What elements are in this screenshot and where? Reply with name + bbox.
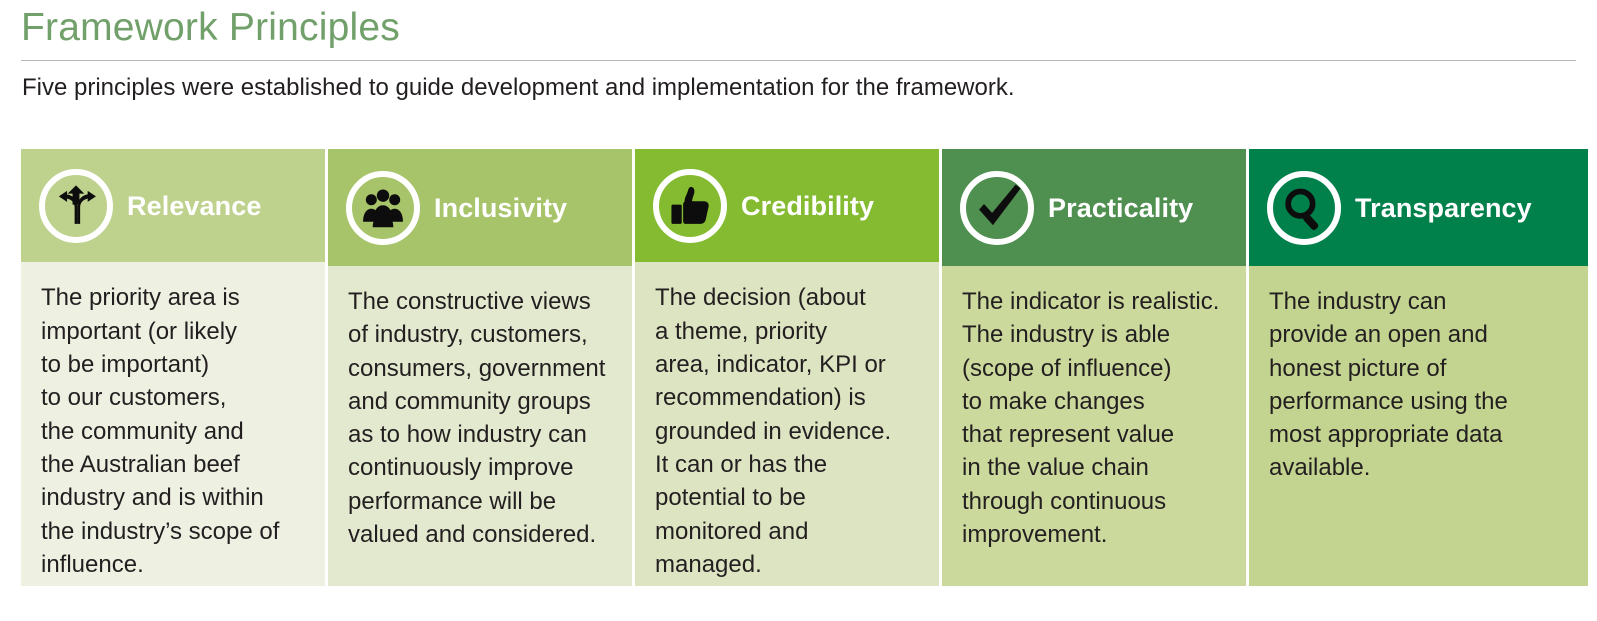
principle-label-practicality: Practicality <box>1048 193 1193 223</box>
principle-body-relevance: The priority area is important (or likel… <box>21 262 325 586</box>
principle-card-relevance: Relevance The priority area is important… <box>21 149 325 586</box>
principle-header-practicality: Practicality <box>942 149 1246 266</box>
framework-principles-page: Framework Principles Five principles wer… <box>0 0 1597 621</box>
principle-body-credibility: The decision (about a theme, priority ar… <box>635 262 939 586</box>
principle-card-transparency: Transparency The industry can provide an… <box>1249 149 1588 586</box>
people-group-icon <box>346 171 420 245</box>
principle-label-credibility: Credibility <box>741 191 874 221</box>
principle-label-inclusivity: Inclusivity <box>434 193 567 223</box>
principle-body-practicality: The indicator is realistic. The industry… <box>942 266 1246 586</box>
title-divider <box>21 60 1576 61</box>
principle-card-credibility: Credibility The decision (about a theme,… <box>635 149 939 586</box>
principle-card-practicality: Practicality The indicator is realistic.… <box>942 149 1246 586</box>
principle-header-transparency: Transparency <box>1249 149 1588 266</box>
principle-label-transparency: Transparency <box>1355 193 1532 223</box>
thumbs-up-icon <box>653 169 727 243</box>
principle-body-transparency: The industry can provide an open and hon… <box>1249 266 1588 586</box>
magnifying-glass-icon <box>1267 171 1341 245</box>
principle-label-relevance: Relevance <box>127 191 262 221</box>
principle-body-inclusivity: The constructive views of industry, cust… <box>328 266 632 586</box>
principle-header-inclusivity: Inclusivity <box>328 149 632 266</box>
checkmark-icon <box>960 171 1034 245</box>
page-title: Framework Principles <box>21 2 400 54</box>
principles-grid: Relevance The priority area is important… <box>21 149 1576 586</box>
principle-header-relevance: Relevance <box>21 149 325 262</box>
principle-header-credibility: Credibility <box>635 149 939 262</box>
principle-card-inclusivity: Inclusivity The constructive views of in… <box>328 149 632 586</box>
diverging-arrows-icon <box>39 169 113 243</box>
page-subtitle: Five principles were established to guid… <box>22 71 1015 105</box>
